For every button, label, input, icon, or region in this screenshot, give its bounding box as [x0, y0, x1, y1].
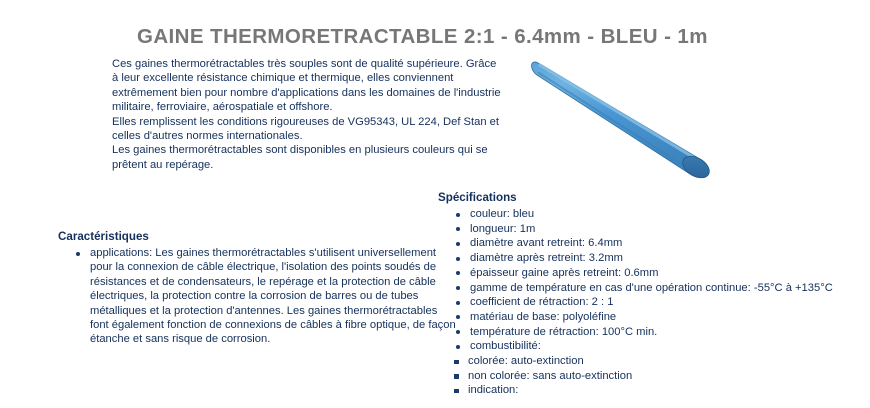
list-item: matériau de base: polyoléfine	[470, 310, 858, 325]
specifications-heading: Spécifications	[438, 191, 858, 204]
specifications-list: couleur: bleu longueur: 1m diamètre avan…	[438, 207, 858, 354]
list-item: diamètre après retreint: 3.2mm	[470, 251, 858, 266]
features-heading: Caractéristiques	[58, 230, 458, 243]
product-page: GAINE THERMORETRACTABLE 2:1 - 6.4mm - BL…	[0, 0, 870, 408]
features-section: Caractéristiques applications: Les gaine…	[58, 230, 458, 347]
list-item: diamètre avant retreint: 6.4mm	[470, 236, 858, 251]
list-item: épaisseur gaine après retreint: 0.6mm	[470, 266, 858, 281]
heat-shrink-tube-image	[512, 42, 727, 182]
list-item: température de rétraction: 100°C min.	[470, 325, 858, 340]
intro-description: Ces gaines thermorétractables très soupl…	[112, 57, 504, 172]
list-item: applications: Les gaines thermorétractab…	[90, 246, 458, 347]
intro-paragraph-3: Les gaines thermorétractables sont dispo…	[112, 143, 504, 172]
list-item: combustibilité:	[470, 339, 858, 354]
list-item: gamme de température en cas d'une opérat…	[470, 281, 858, 296]
list-item: indication:	[468, 383, 858, 398]
intro-paragraph-2: Elles remplissent les conditions rigoure…	[112, 115, 504, 144]
list-item: coefficient de rétraction: 2 : 1	[470, 295, 858, 310]
intro-paragraph-1: Ces gaines thermorétractables très soupl…	[112, 57, 504, 115]
tube-body	[532, 62, 704, 176]
list-item: non colorée: sans auto-extinction	[468, 369, 858, 384]
list-item: colorée: auto-extinction	[468, 354, 858, 369]
list-item: longueur: 1m	[470, 222, 858, 237]
list-item: couleur: bleu	[470, 207, 858, 222]
specifications-section: Spécifications couleur: bleu longueur: 1…	[438, 191, 858, 398]
features-list: applications: Les gaines thermorétractab…	[58, 246, 458, 347]
combustibility-sublist: colorée: auto-extinction non colorée: sa…	[438, 354, 858, 398]
